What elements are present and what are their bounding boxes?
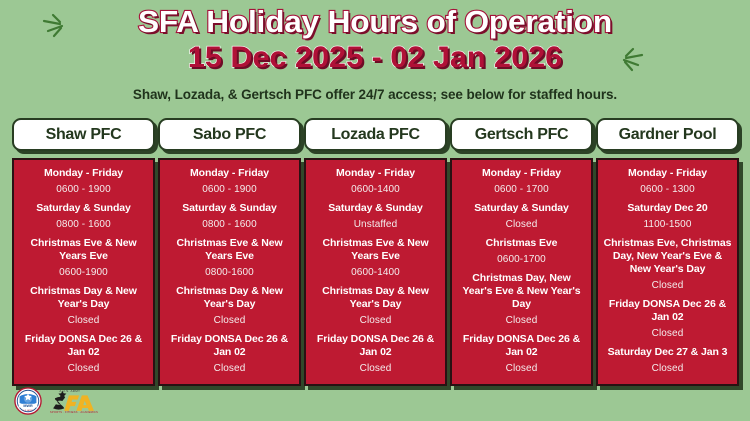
facility-card: Gardner PoolMonday - Friday0600 - 1300Sa… — [596, 118, 739, 386]
hours-row-label: Christmas Eve & New Years Eve — [165, 237, 294, 263]
hours-row-label: Christmas Day & New Year's Day — [165, 285, 294, 311]
page-date-range: 15 Dec 2025 - 02 Jan 2026 — [0, 41, 750, 75]
hours-row-value: Closed — [19, 362, 148, 375]
hours-row-label: Saturday Dec 20 — [603, 202, 732, 215]
facility-card-header[interactable]: Sabo PFC — [158, 118, 301, 151]
hours-row-value: Closed — [603, 279, 732, 292]
facility-card: Sabo PFCMonday - Friday0600 - 1900Saturd… — [158, 118, 301, 386]
hours-row-label: Saturday Dec 27 & Jan 3 — [603, 346, 732, 359]
hours-row-label: Christmas Eve & New Years Eve — [311, 237, 440, 263]
hours-row-value: 0600 - 1900 — [165, 183, 294, 196]
facility-card-header[interactable]: Lozada PFC — [304, 118, 447, 151]
hours-row-value: 0600 - 1300 — [603, 183, 732, 196]
facility-hours-list: Monday - Friday0600-1400Saturday & Sunda… — [304, 158, 447, 386]
facility-card: Gertsch PFCMonday - Friday0600 - 1700Sat… — [450, 118, 593, 386]
page-title: SFA Holiday Hours of Operation — [0, 4, 750, 40]
hours-row-value: Closed — [603, 362, 732, 375]
hours-row-label: Monday - Friday — [19, 167, 148, 180]
facility-hours-list: Monday - Friday0600 - 1900Saturday & Sun… — [158, 158, 301, 386]
hours-row-value: 0600-1400 — [311, 183, 440, 196]
hours-row-label: Friday DONSA Dec 26 & Jan 02 — [165, 333, 294, 359]
facility-name: Gertsch PFC — [475, 126, 569, 144]
army-mwr-logo: MWR U.S. ARMY — [14, 387, 42, 415]
hours-row-label: Monday - Friday — [165, 167, 294, 180]
hours-row-value: Closed — [457, 218, 586, 231]
hours-row-value: Closed — [311, 362, 440, 375]
hours-row-value: Closed — [165, 362, 294, 375]
hours-row-label: Christmas Eve & New Years Eve — [19, 237, 148, 263]
hours-row-label: Saturday & Sunday — [311, 202, 440, 215]
hours-row-label: Monday - Friday — [603, 167, 732, 180]
hours-row-label: Monday - Friday — [311, 167, 440, 180]
hours-row-label: Saturday & Sunday — [165, 202, 294, 215]
facility-card-header[interactable]: Gertsch PFC — [450, 118, 593, 151]
footer-logos: MWR U.S. ARMY A U.S. ARMY SPORTS · FITNE… — [14, 387, 100, 415]
hours-row-value: 0800 - 1600 — [165, 218, 294, 231]
hours-row-value: Closed — [457, 314, 586, 327]
hours-row-value: 0600-1400 — [311, 266, 440, 279]
facility-name: Lozada PFC — [331, 126, 420, 144]
facility-name: Shaw PFC — [46, 126, 122, 144]
facility-hours-list: Monday - Friday0600 - 1700Saturday & Sun… — [450, 158, 593, 386]
facility-hours-list: Monday - Friday0600 - 1900Saturday & Sun… — [12, 158, 155, 386]
hours-row-label: Christmas Day, New Year's Eve & New Year… — [457, 272, 586, 311]
svg-text:SPORTS · FITNESS · ACADEMICS: SPORTS · FITNESS · ACADEMICS — [50, 410, 98, 414]
hours-row-label: Christmas Day & New Year's Day — [311, 285, 440, 311]
hours-row-label: Monday - Friday — [457, 167, 586, 180]
facility-card-row: Shaw PFCMonday - Friday0600 - 1900Saturd… — [0, 118, 750, 386]
facility-card-header[interactable]: Shaw PFC — [12, 118, 155, 151]
hours-row-label: Saturday & Sunday — [457, 202, 586, 215]
facility-hours-list: Monday - Friday0600 - 1300Saturday Dec 2… — [596, 158, 739, 386]
hours-row-label: Christmas Day & New Year's Day — [19, 285, 148, 311]
facility-card-header[interactable]: Gardner Pool — [596, 118, 739, 151]
hours-row-label: Friday DONSA Dec 26 & Jan 02 — [457, 333, 586, 359]
page-subtitle: Shaw, Lozada, & Gertsch PFC offer 24/7 a… — [0, 87, 750, 102]
facility-card: Lozada PFCMonday - Friday0600-1400Saturd… — [304, 118, 447, 386]
hours-row-value: Closed — [165, 314, 294, 327]
hours-row-value: Closed — [457, 362, 586, 375]
svg-text:MWR: MWR — [23, 404, 33, 408]
hours-row-value: Closed — [311, 314, 440, 327]
hours-row-label: Friday DONSA Dec 26 & Jan 02 — [603, 298, 732, 324]
hours-row-value: 0800 - 1600 — [19, 218, 148, 231]
hours-row-value: 0600-1700 — [457, 253, 586, 266]
hours-row-value: 0600 - 1700 — [457, 183, 586, 196]
hours-row-value: 0600 - 1900 — [19, 183, 148, 196]
hours-row-value: 1100-1500 — [603, 218, 732, 231]
hours-row-value: 0800-1600 — [165, 266, 294, 279]
hours-row-value: Closed — [603, 327, 732, 340]
hours-row-label: Friday DONSA Dec 26 & Jan 02 — [311, 333, 440, 359]
facility-name: Gardner Pool — [619, 126, 717, 144]
hours-row-value: 0600-1900 — [19, 266, 148, 279]
hours-row-label: Christmas Eve — [457, 237, 586, 250]
facility-name: Sabo PFC — [193, 126, 266, 144]
hours-row-label: Christmas Eve, Christmas Day, New Year's… — [603, 237, 732, 276]
hours-row-label: Saturday & Sunday — [19, 202, 148, 215]
hours-row-value: Unstaffed — [311, 218, 440, 231]
facility-card: Shaw PFCMonday - Friday0600 - 1900Saturd… — [12, 118, 155, 386]
hours-row-value: Closed — [19, 314, 148, 327]
hours-row-label: Friday DONSA Dec 26 & Jan 02 — [19, 333, 148, 359]
page-header: SFA Holiday Hours of Operation 15 Dec 20… — [0, 0, 750, 102]
sfa-sports-fitness-academics-logo: A U.S. ARMY SPORTS · FITNESS · ACADEMICS — [48, 388, 100, 414]
